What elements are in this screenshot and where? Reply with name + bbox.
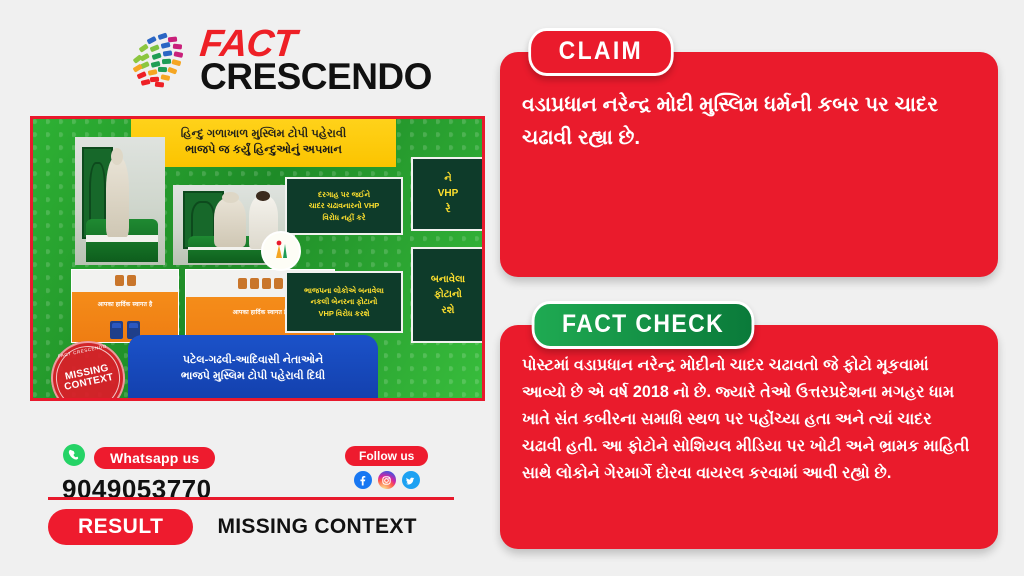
whatsapp-number: 9049053770 bbox=[62, 474, 215, 505]
yellow-banner-line2: ભાજપે જ કર્યું હિન્દુઓનું અપમાન bbox=[185, 143, 342, 159]
result-row: RESULT MISSING CONTEXT bbox=[48, 509, 417, 545]
collage-blue-banner: પટેલ-ગઢવી-આદિવાસી નેતાઓને ભાજપે મુસ્લિમ … bbox=[128, 335, 378, 401]
result-label-badge: RESULT bbox=[48, 509, 193, 545]
blue-banner-line2: ભાજપે મુસ્લિમ ટોપી પહેરાવી દિધી bbox=[181, 368, 325, 385]
green-box-2-line1: ભાજપના લોકોએ બનાવેલા bbox=[304, 285, 384, 297]
brand-logo: FACT CRESCENDO bbox=[128, 28, 432, 94]
green-box-4-line1: બનાવેલા bbox=[431, 272, 465, 288]
brand-wordmark: FACT CRESCENDO bbox=[200, 28, 432, 94]
fact-check-tag: FACT CHECK bbox=[532, 301, 755, 349]
collage-emblem-icon bbox=[261, 231, 301, 271]
brand-name-line1: FACT bbox=[198, 28, 433, 61]
collage-green-box-2: ભાજપના લોકોએ બનાવેલા નકલી બેનરના ફોટાનો … bbox=[285, 271, 403, 333]
follow-us-block: Follow us bbox=[345, 446, 428, 489]
banner-welcome-text-2: आपका हार्दिक स्वागत है bbox=[233, 308, 288, 316]
follow-us-label[interactable]: Follow us bbox=[345, 446, 428, 466]
green-box-3-line2: VHP bbox=[438, 186, 459, 202]
green-box-4-line2: ફોટાનો bbox=[434, 287, 462, 303]
claim-tag: CLAIM bbox=[528, 28, 673, 76]
collage-green-box-3: ને VHP રે bbox=[411, 157, 485, 231]
green-box-4-line3: રશે bbox=[442, 303, 455, 319]
twitter-icon[interactable] bbox=[402, 471, 420, 489]
collage-green-box-1: દરગાહ પર જઈને ચાદર ચઢાવનારનો VHP વિરોધ ન… bbox=[285, 177, 403, 235]
yellow-banner-line1: હિન્દુ ગળાખાળ મુસ્લિમ ટોપી પહેરાવી bbox=[181, 127, 347, 143]
brand-name-line2: CRESCENDO bbox=[200, 61, 432, 94]
claim-text: વડાપ્રધાન નરેન્દ્ર મોદી મુસ્લિમ ધર્મની ક… bbox=[522, 88, 974, 154]
claim-card bbox=[500, 52, 998, 277]
collage-yellow-banner: હિન્દુ ગળાખાળ મુસ્લિમ ટોપી પહેરાવી ભાજપે… bbox=[131, 119, 396, 167]
globe-icon bbox=[128, 30, 190, 92]
green-box-1-line1: દરગાહ પર જઈને bbox=[318, 189, 370, 201]
infographic-canvas: FACT CRESCENDO હિન્દુ ગળાખાળ મુસ્લિમ ટોપ… bbox=[0, 0, 1024, 576]
banner-welcome-text-1: आपका हार्दिक स्वागत है bbox=[98, 300, 153, 308]
green-box-3-line1: ને bbox=[444, 171, 451, 187]
fact-check-text: પોસ્ટમાં વડાપ્રધાન નરેન્દ્ર મોદીનો ચાદર … bbox=[522, 352, 974, 486]
green-box-1-line3: વિરોધ નહીં કરે bbox=[322, 212, 365, 224]
collage-photo-banner-1: आपका हार्दिक स्वागत है bbox=[71, 269, 179, 343]
blue-banner-line1: પટેલ-ગઢવી-આદિવાસી નેતાઓને bbox=[183, 352, 323, 369]
green-box-2-line3: VHP વિરોધ કરશે bbox=[318, 308, 369, 320]
green-box-3-line3: રે bbox=[445, 202, 450, 218]
verdict-text: MISSING CONTEXT bbox=[217, 515, 416, 539]
collage-photo-modi-1 bbox=[75, 137, 165, 265]
green-box-1-line2: ચાદર ચઢાવનારનો VHP bbox=[309, 200, 380, 212]
instagram-icon[interactable] bbox=[378, 471, 396, 489]
whatsapp-label[interactable]: Whatsapp us bbox=[94, 447, 215, 469]
footer-divider bbox=[48, 497, 454, 500]
source-image-collage: હિન્દુ ગળાખાળ મુસ્લિમ ટોપી પહેરાવી ભાજપે… bbox=[30, 116, 485, 401]
whatsapp-icon bbox=[62, 443, 86, 472]
green-box-2-line2: નકલી બેનરના ફોટાનો bbox=[311, 296, 378, 308]
collage-green-box-4: બનાવેલા ફોટાનો રશે bbox=[411, 247, 485, 343]
whatsapp-contact: Whatsapp us 9049053770 bbox=[62, 443, 215, 505]
facebook-icon[interactable] bbox=[354, 471, 372, 489]
